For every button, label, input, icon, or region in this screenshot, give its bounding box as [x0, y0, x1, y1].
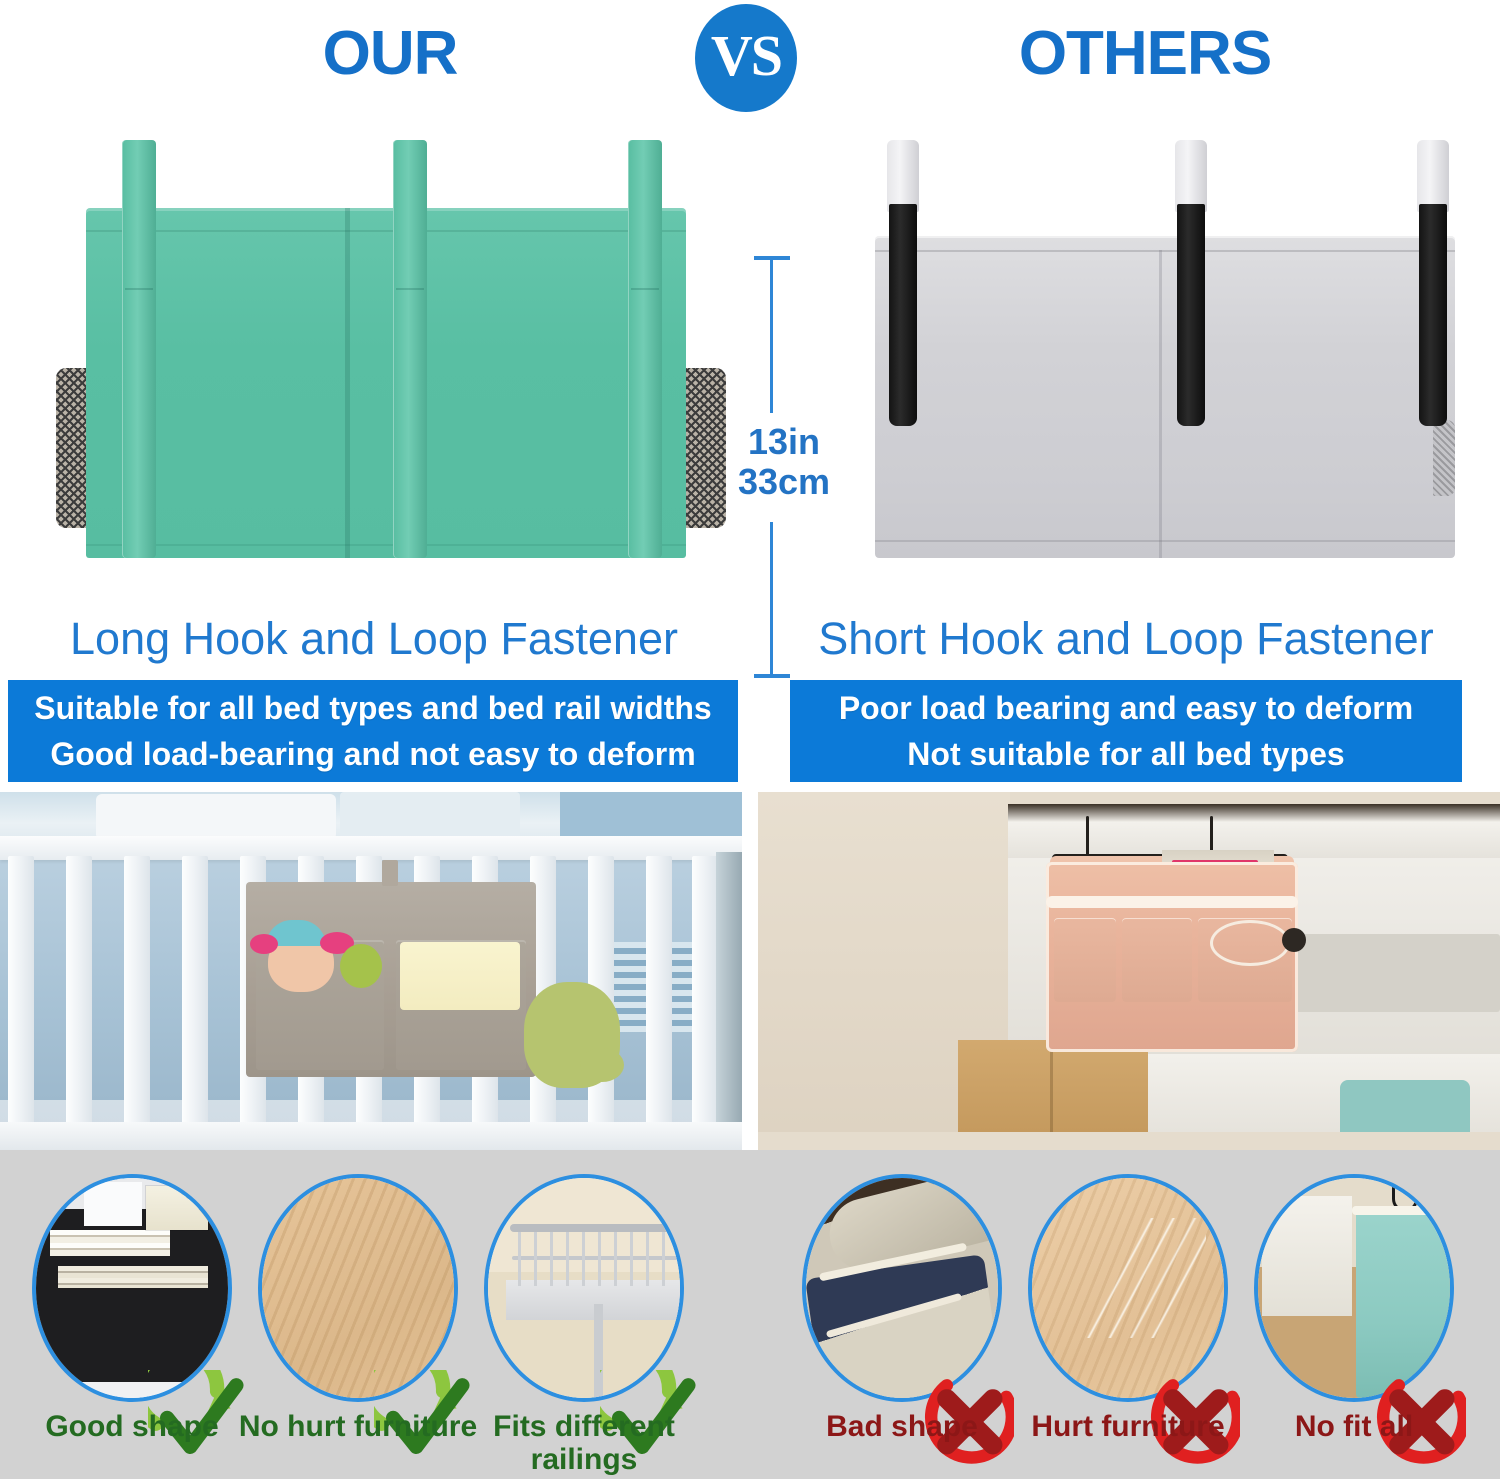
dimension-inches: 13in — [729, 422, 839, 462]
badge-label: Bad shape — [776, 1410, 1028, 1443]
deformed-bag-photo — [802, 1174, 1002, 1402]
badge-circle — [1254, 1174, 1454, 1402]
page-title-others: OTHERS — [1010, 16, 1280, 92]
page-title-our: OUR — [300, 16, 480, 92]
plush-toy-ear-left — [250, 934, 278, 954]
organizer-body — [86, 208, 686, 558]
benefit-line-1: Suitable for all bed types and bed rail … — [8, 685, 738, 731]
badge-no-hurt-furniture: No hurt furniture — [250, 1174, 466, 1472]
strap-velcro — [1419, 204, 1447, 426]
crib-slat — [66, 856, 92, 1136]
badge-bad-shape: Bad shape — [794, 1174, 1010, 1472]
drawback-line-2: Not suitable for all bed types — [790, 731, 1462, 777]
strap-tip — [887, 140, 919, 212]
wood-surface-photo — [258, 1174, 458, 1402]
coiled-cord — [1210, 920, 1290, 966]
long-fastener-strap-2 — [393, 140, 427, 558]
diaper-pack — [400, 942, 520, 1010]
plush-toy-dinosaur — [524, 982, 620, 1088]
bed-railing-photo — [484, 1174, 684, 1402]
strap-tip — [1417, 140, 1449, 212]
scratched-wood-photo — [1028, 1174, 1228, 1402]
subtitle-our: Long Hook and Loop Fastener — [0, 608, 748, 670]
our-badges-group: LIFESTYLE INTERIOR BOOK Good shape No hu… — [0, 1150, 742, 1479]
drawback-line-1: Poor load bearing and easy to deform — [790, 685, 1462, 731]
badge-label: No fit all — [1228, 1410, 1480, 1443]
badge-circle — [258, 1174, 458, 1402]
stacked-books — [50, 1230, 170, 1256]
vs-badge: VS — [695, 4, 797, 112]
strap-velcro — [1177, 204, 1205, 426]
others-badges-group: Bad shape Hurt furniture — [758, 1150, 1500, 1479]
lifestyle-photo-row — [0, 792, 1500, 1150]
vs-badge-label: VS — [711, 27, 781, 89]
badge-circle — [484, 1174, 684, 1402]
black-organizer-photo: LIFESTYLE INTERIOR BOOK — [32, 1174, 232, 1402]
product-comparison-row: 13in 33cm — [0, 110, 1500, 600]
badge-circle — [802, 1174, 1002, 1402]
crib-slat — [692, 856, 718, 1136]
long-fastener-strap-1 — [122, 140, 156, 558]
organizer-hook — [382, 860, 398, 886]
crib-pillow — [96, 794, 336, 840]
crib-slat — [8, 856, 34, 1136]
competitor-bag-lip — [1046, 896, 1298, 908]
crib-slat — [182, 856, 208, 1136]
book-cover-text: LIFESTYLE INTERIOR BOOK — [148, 1192, 206, 1222]
subtitle-row: Long Hook and Loop Fastener Short Hook a… — [0, 600, 1500, 678]
badge-circle: LIFESTYLE INTERIOR BOOK — [32, 1174, 232, 1402]
crib-pillow-secondary — [340, 792, 520, 840]
crib-bottom-rail — [0, 1122, 742, 1150]
badge-label: Good shape — [6, 1410, 258, 1443]
mesh-side-pocket-right — [682, 368, 726, 528]
plush-toy-green-ball — [340, 944, 382, 988]
strap-tip — [1175, 140, 1207, 212]
teal-chair — [1340, 1080, 1470, 1132]
hanging-wire-left — [1086, 816, 1089, 858]
crib-blue-sheet — [560, 792, 742, 842]
badge-circle — [1028, 1174, 1228, 1402]
others-product-image — [865, 140, 1465, 590]
crib-slat — [124, 856, 150, 1136]
organizer-pocket-divider — [345, 208, 350, 558]
subtitle-others: Short Hook and Loop Fastener — [752, 608, 1500, 670]
badge-fits-railings: Fits different railings — [476, 1174, 692, 1472]
badge-good-shape: LIFESTYLE INTERIOR BOOK Good shape — [24, 1174, 240, 1472]
competitor-mesh-pocket — [1433, 420, 1455, 496]
others-lifestyle-photo-bedside — [758, 792, 1500, 1150]
bag-strap — [819, 1242, 967, 1281]
stacked-magazines — [58, 1266, 208, 1288]
drawbacks-banner-others: Poor load bearing and easy to deform Not… — [790, 680, 1462, 782]
dimension-centimeters: 33cm — [729, 462, 839, 502]
bed-knob — [1282, 928, 1306, 952]
bag-lip — [1352, 1206, 1454, 1215]
strap-velcro — [889, 204, 917, 426]
competitor-pocket-2 — [1122, 918, 1192, 1002]
crib-slat — [646, 856, 672, 1136]
teal-bag-hook-photo — [1254, 1174, 1454, 1402]
bag-strap-secondary — [826, 1293, 963, 1338]
badge-no-fit-all: No fit all — [1246, 1174, 1462, 1472]
badge-label: Hurt furniture — [1002, 1410, 1254, 1443]
competitor-organizer-body — [875, 236, 1455, 558]
badge-label: No hurt furniture — [232, 1410, 484, 1443]
cardboard-box — [958, 1040, 1148, 1132]
dimension-label: 13in 33cm — [729, 422, 839, 502]
benefit-line-2: Good load-bearing and not easy to deform — [8, 731, 738, 777]
crib-side-panel — [716, 852, 742, 1132]
dimension-line-upper — [770, 258, 773, 413]
competitor-pocket-1 — [1054, 918, 1116, 1002]
bottom-badge-strip: LIFESTYLE INTERIOR BOOK Good shape No hu… — [0, 1150, 1500, 1479]
our-product-image — [48, 140, 738, 590]
our-lifestyle-photo-crib — [0, 792, 742, 1150]
badge-label: Fits different railings — [458, 1410, 710, 1476]
competitor-pocket-divider — [1159, 250, 1162, 558]
comparison-header: OUR VS OTHERS — [0, 0, 1500, 110]
badge-hurt-furniture: Hurt furniture — [1020, 1174, 1236, 1472]
long-fastener-strap-3 — [628, 140, 662, 558]
benefits-banner-our: Suitable for all bed types and bed rail … — [8, 680, 738, 782]
